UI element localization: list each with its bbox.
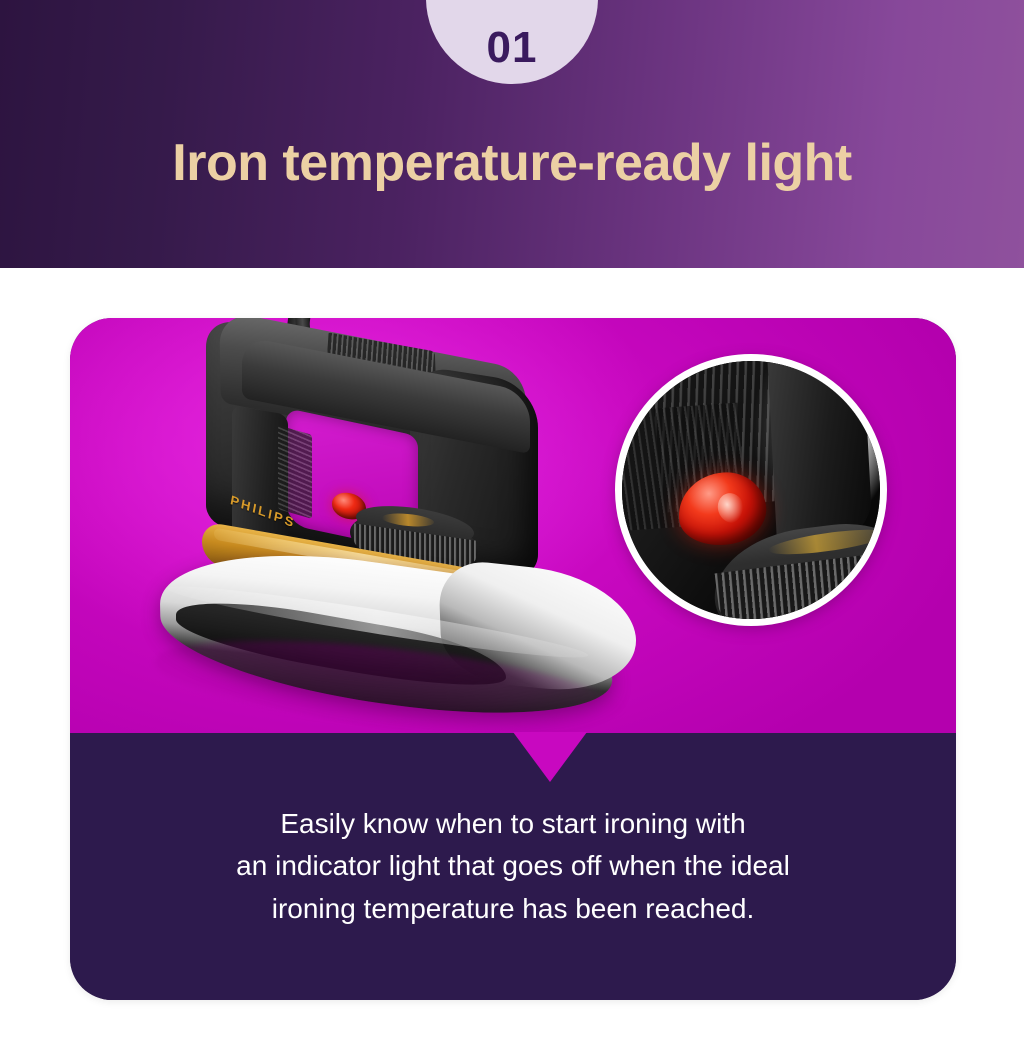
detail-zoom-inset xyxy=(615,354,887,626)
caption-text: Easily know when to start ironing with a… xyxy=(236,803,790,931)
infographic-page: 01 Iron temperature-ready light PHILIPS xyxy=(0,0,1024,1055)
step-number-label: 01 xyxy=(487,26,538,70)
feature-card: PHILIPS xyxy=(70,318,956,1000)
iron-illustration: PHILIPS xyxy=(110,318,630,733)
caption-pointer-triangle xyxy=(513,732,587,782)
iron-side-vents xyxy=(278,425,312,519)
header-band: 01 Iron temperature-ready light xyxy=(0,0,1024,268)
inset-body-wall xyxy=(767,354,873,543)
product-photo: PHILIPS xyxy=(70,318,956,733)
page-title: Iron temperature-ready light xyxy=(0,136,1024,191)
